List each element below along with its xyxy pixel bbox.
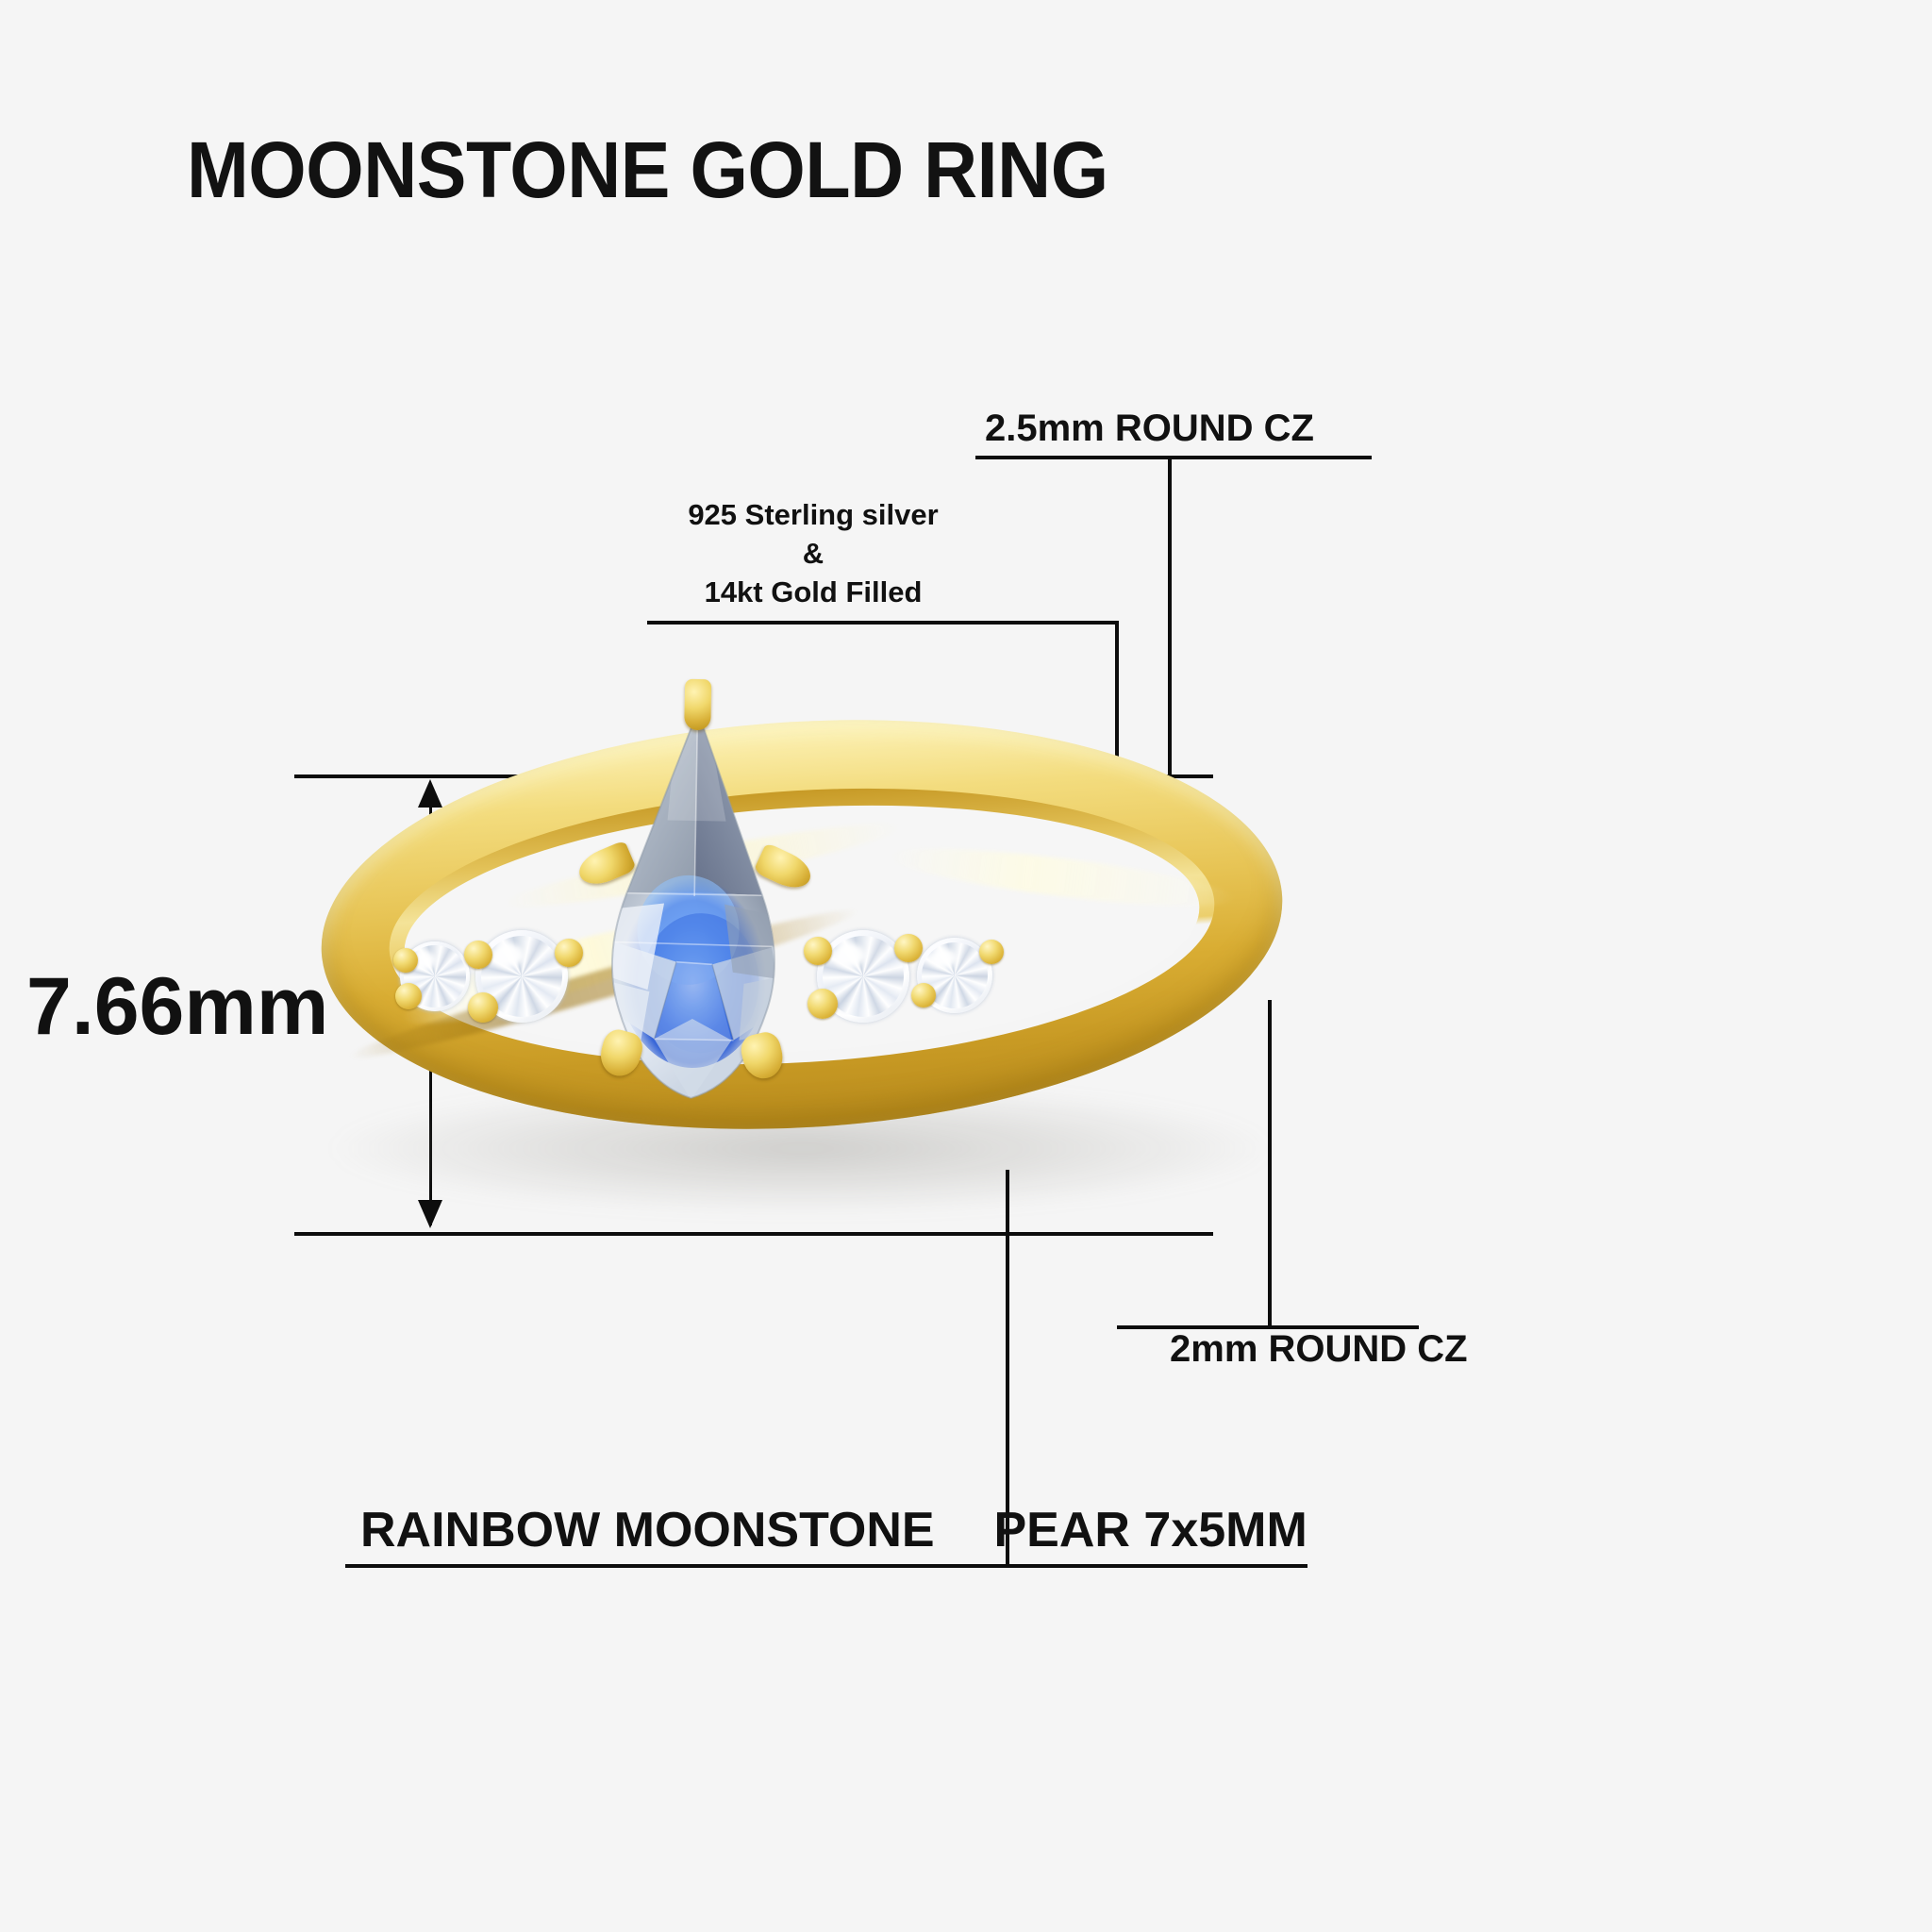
- prong-left-outer-bottom: [395, 983, 422, 1009]
- prong-left-outer-top: [393, 948, 418, 973]
- callout-leader-cz-2mm: [1268, 1000, 1272, 1328]
- material-line-3: 14kt Gold Filled: [705, 575, 923, 608]
- diagram-canvas: MOONSTONE GOLD RING 2.5mm ROUND CZ 925 S…: [0, 0, 1932, 1932]
- material-line-1: 925 Sterling silver: [688, 498, 938, 531]
- page-title: MOONSTONE GOLD RING: [187, 125, 1108, 216]
- center-prong-top: [684, 679, 711, 730]
- callout-rule-material: [647, 621, 1119, 625]
- prong-right-outer-bottom: [911, 983, 936, 1008]
- material-line-2: &: [672, 534, 955, 573]
- prong-left-inner-right: [555, 939, 583, 967]
- callout-rule-cz-2-5mm: [975, 456, 1372, 459]
- ring-illustration: [283, 745, 1340, 1245]
- center-moonstone: [579, 706, 808, 1106]
- prong-right-outer-top: [979, 940, 1004, 964]
- callout-label-cz-2-5mm: 2.5mm ROUND CZ: [985, 408, 1314, 450]
- callout-label-material: 925 Sterling silver & 14kt Gold Filled: [672, 495, 955, 612]
- prong-right-inner-left: [804, 937, 832, 965]
- prong-left-inner-top: [464, 941, 492, 969]
- caption-underline: [345, 1564, 1307, 1568]
- prong-right-inner-bottom: [808, 989, 838, 1019]
- caption-right-text: PEAR 7x5MM: [994, 1503, 1307, 1557]
- caption-left-text: RAINBOW MOONSTONE: [360, 1503, 935, 1557]
- callout-label-cz-2mm: 2mm ROUND CZ: [1170, 1328, 1468, 1371]
- prong-left-inner-bottom: [468, 992, 498, 1023]
- bottom-caption: RAINBOW MOONSTONE PEAR 7x5MM: [360, 1502, 1307, 1558]
- prong-right-inner-top: [894, 934, 923, 962]
